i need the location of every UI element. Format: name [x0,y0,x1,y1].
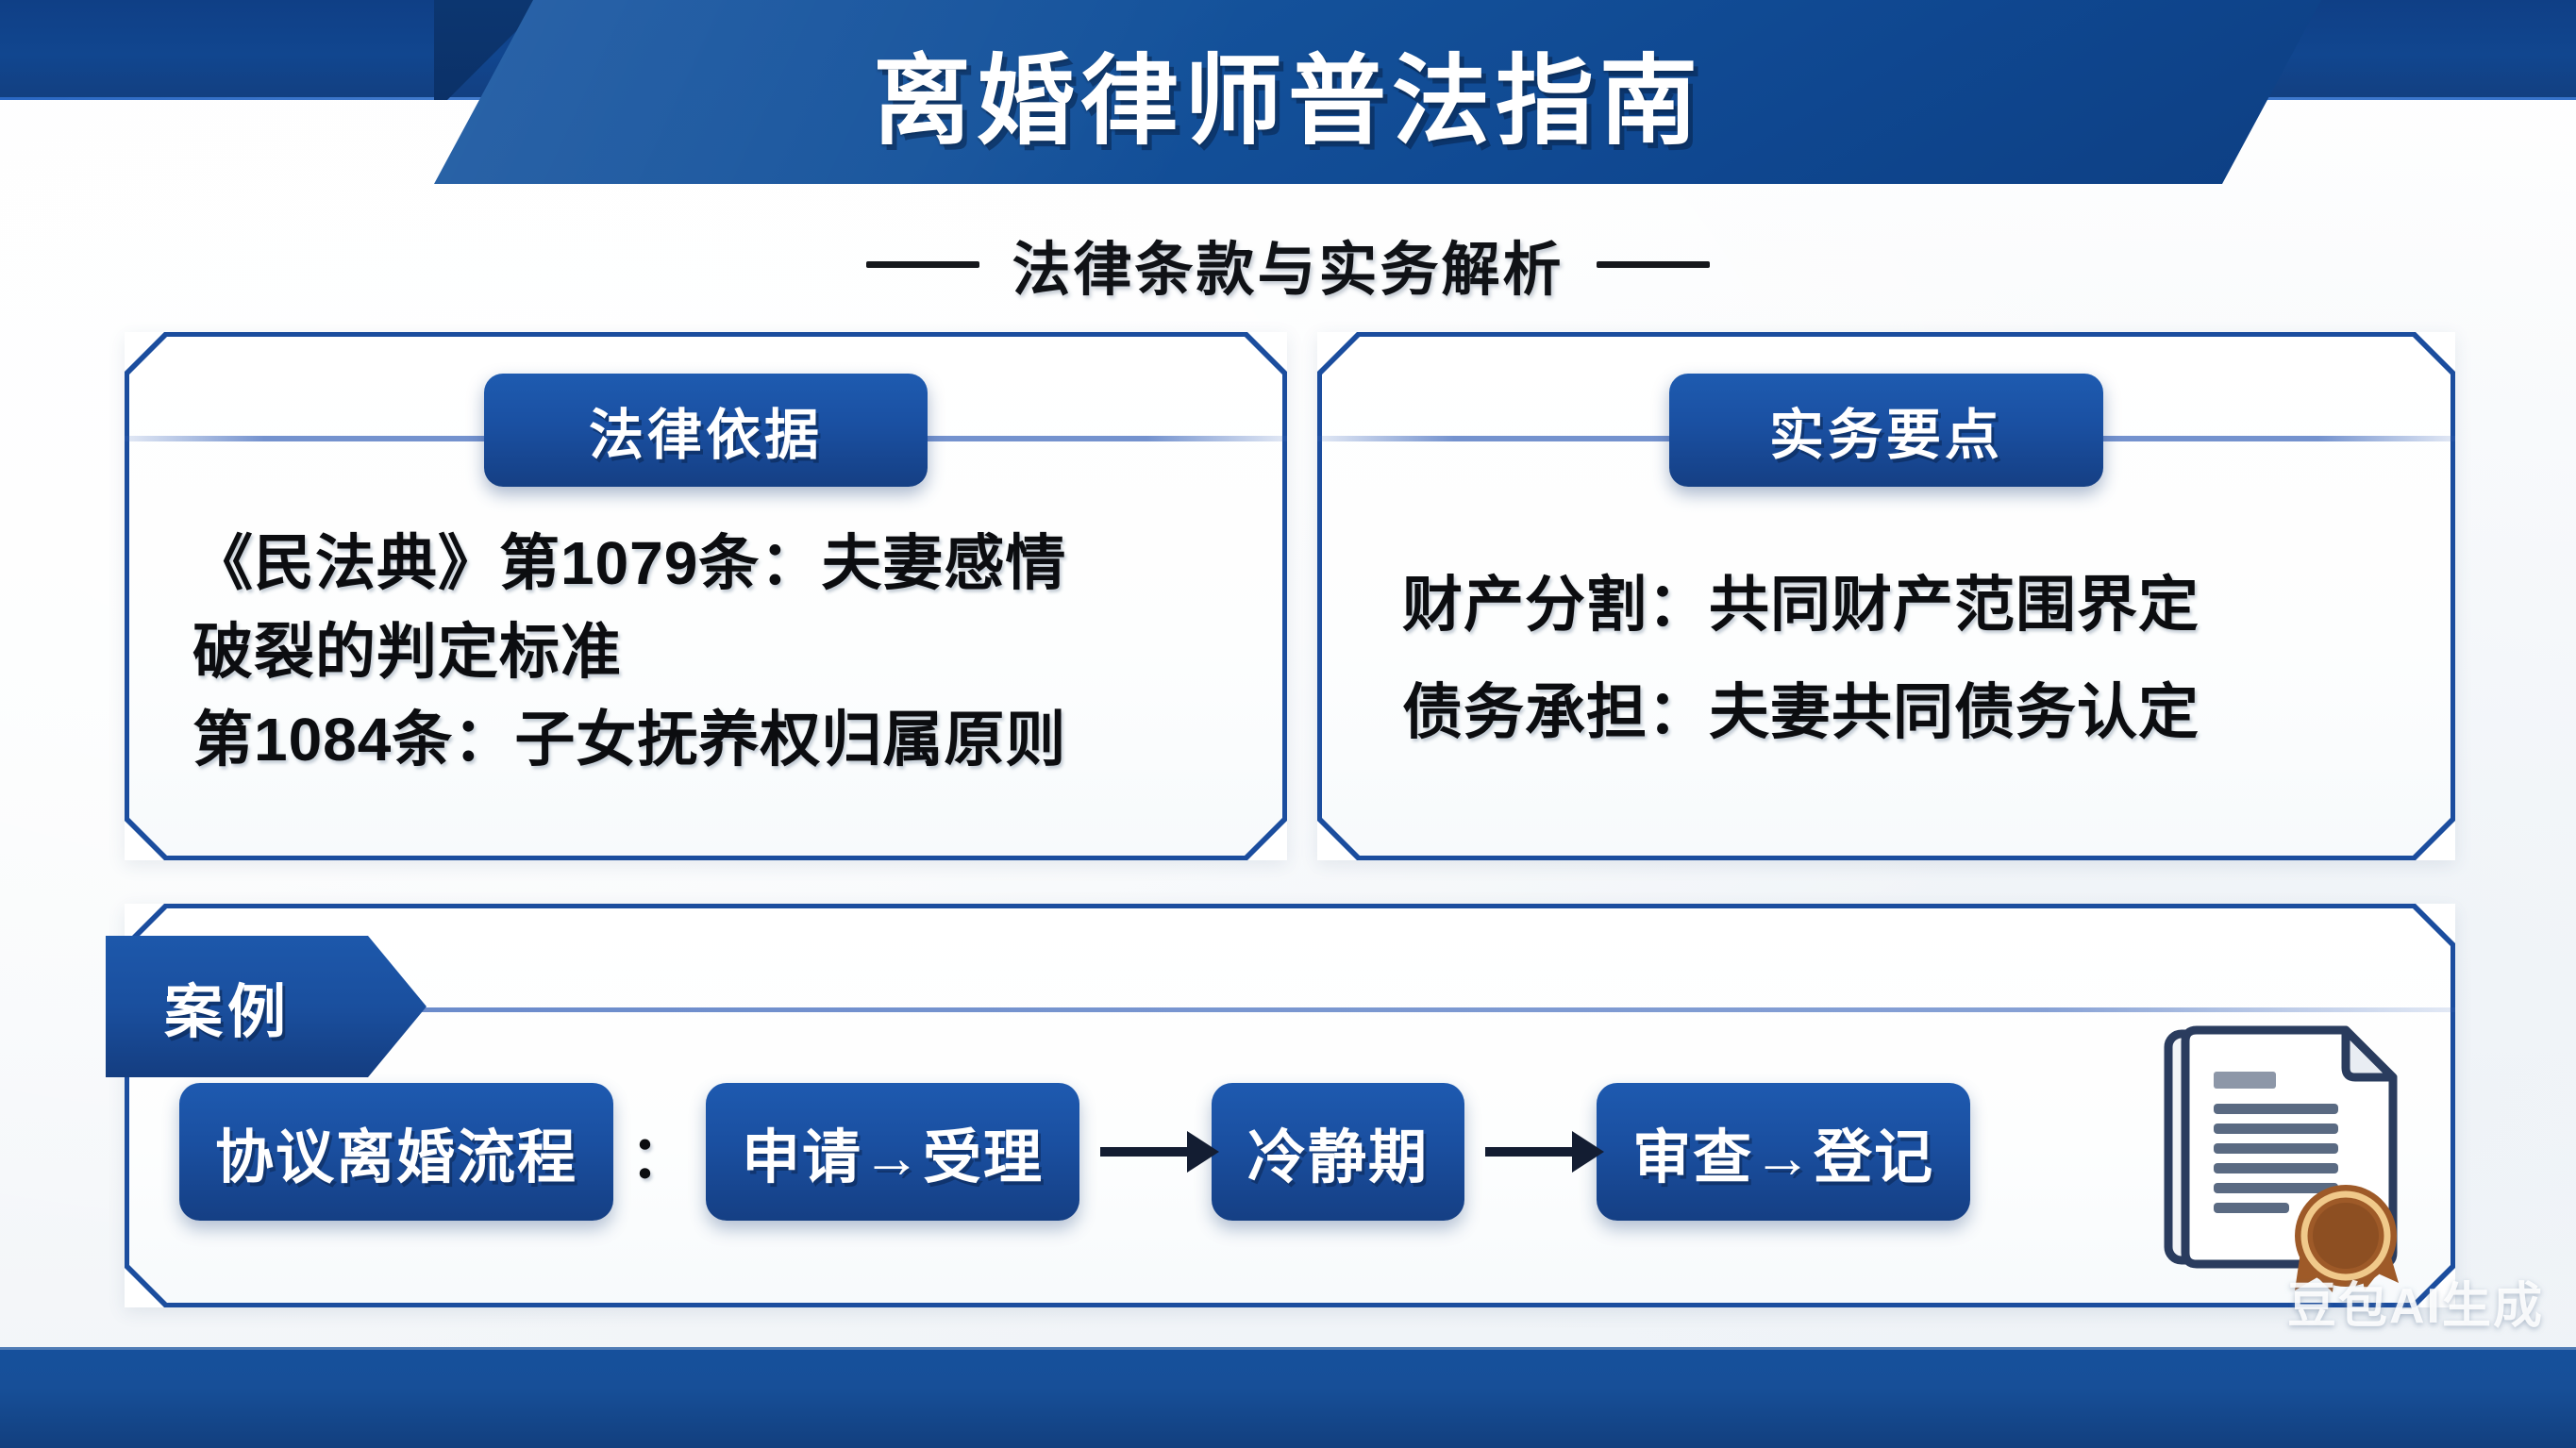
subtitle-text: 法律条款与实务解析 [1012,222,1564,307]
flow-step-3[interactable]: 审查→登记 [1597,1083,1970,1221]
bottom-bar [0,1347,2576,1448]
card-legal-basis-line-1: 《民法典》第1079条：夫妻感情 [192,528,1230,600]
card-legal-basis: 法律依据 《民法典》第1079条：夫妻感情 破裂的判定标准 第1084条：子女抚… [125,332,1287,860]
document-seal-icon [2161,1017,2434,1300]
card-case-divider [408,1007,2455,1012]
card-practice-points: 实务要点 财产分割：共同财产范围界定 债务承担：夫妻共同债务认定 [1317,332,2455,860]
badge-practice-points: 实务要点 [1669,374,2103,487]
subtitle-rule-right [1597,261,1710,268]
subtitle-row: 法律条款与实务解析 [0,212,2576,316]
card-legal-basis-line-2: 破裂的判定标准 [192,617,1230,689]
watermark: 豆包AI生成 [2287,1266,2544,1337]
card-practice-points-line-2: 债务承担：夫妻共同债务认定 [1402,677,2393,749]
flow-arrow-1-icon [1100,1147,1191,1157]
badge-case: 案例 [106,936,427,1077]
flow-colon: ： [613,1109,706,1194]
flow-arrow-2-icon [1485,1147,1576,1157]
infographic-page: 离婚律师普法指南 法律条款与实务解析 法律依据 《民法典》第1079条：夫妻感情… [0,0,2576,1448]
flow-step-2[interactable]: 冷静期 [1212,1083,1464,1221]
header: 离婚律师普法指南 [0,0,2576,217]
flow-label-chip[interactable]: 协议离婚流程 [179,1083,613,1221]
card-practice-points-body: 财产分割：共同财产范围界定 债务承担：夫妻共同债务认定 [1402,570,2393,748]
badge-legal-basis: 法律依据 [484,374,928,487]
card-legal-basis-body: 《民法典》第1079条：夫妻感情 破裂的判定标准 第1084条：子女抚养权归属原… [192,528,1230,776]
flow-step-1[interactable]: 申请→受理 [706,1083,1079,1221]
subtitle-rule-left [866,261,979,268]
card-practice-points-line-1: 财产分割：共同财产范围界定 [1402,570,2393,641]
case-flow: 协议离婚流程 ： 申请→受理 冷静期 审查→登记 [179,1083,1970,1221]
card-legal-basis-line-3: 第1084条：子女抚养权归属原则 [192,705,1230,776]
page-title: 离婚律师普法指南 [0,0,2576,184]
